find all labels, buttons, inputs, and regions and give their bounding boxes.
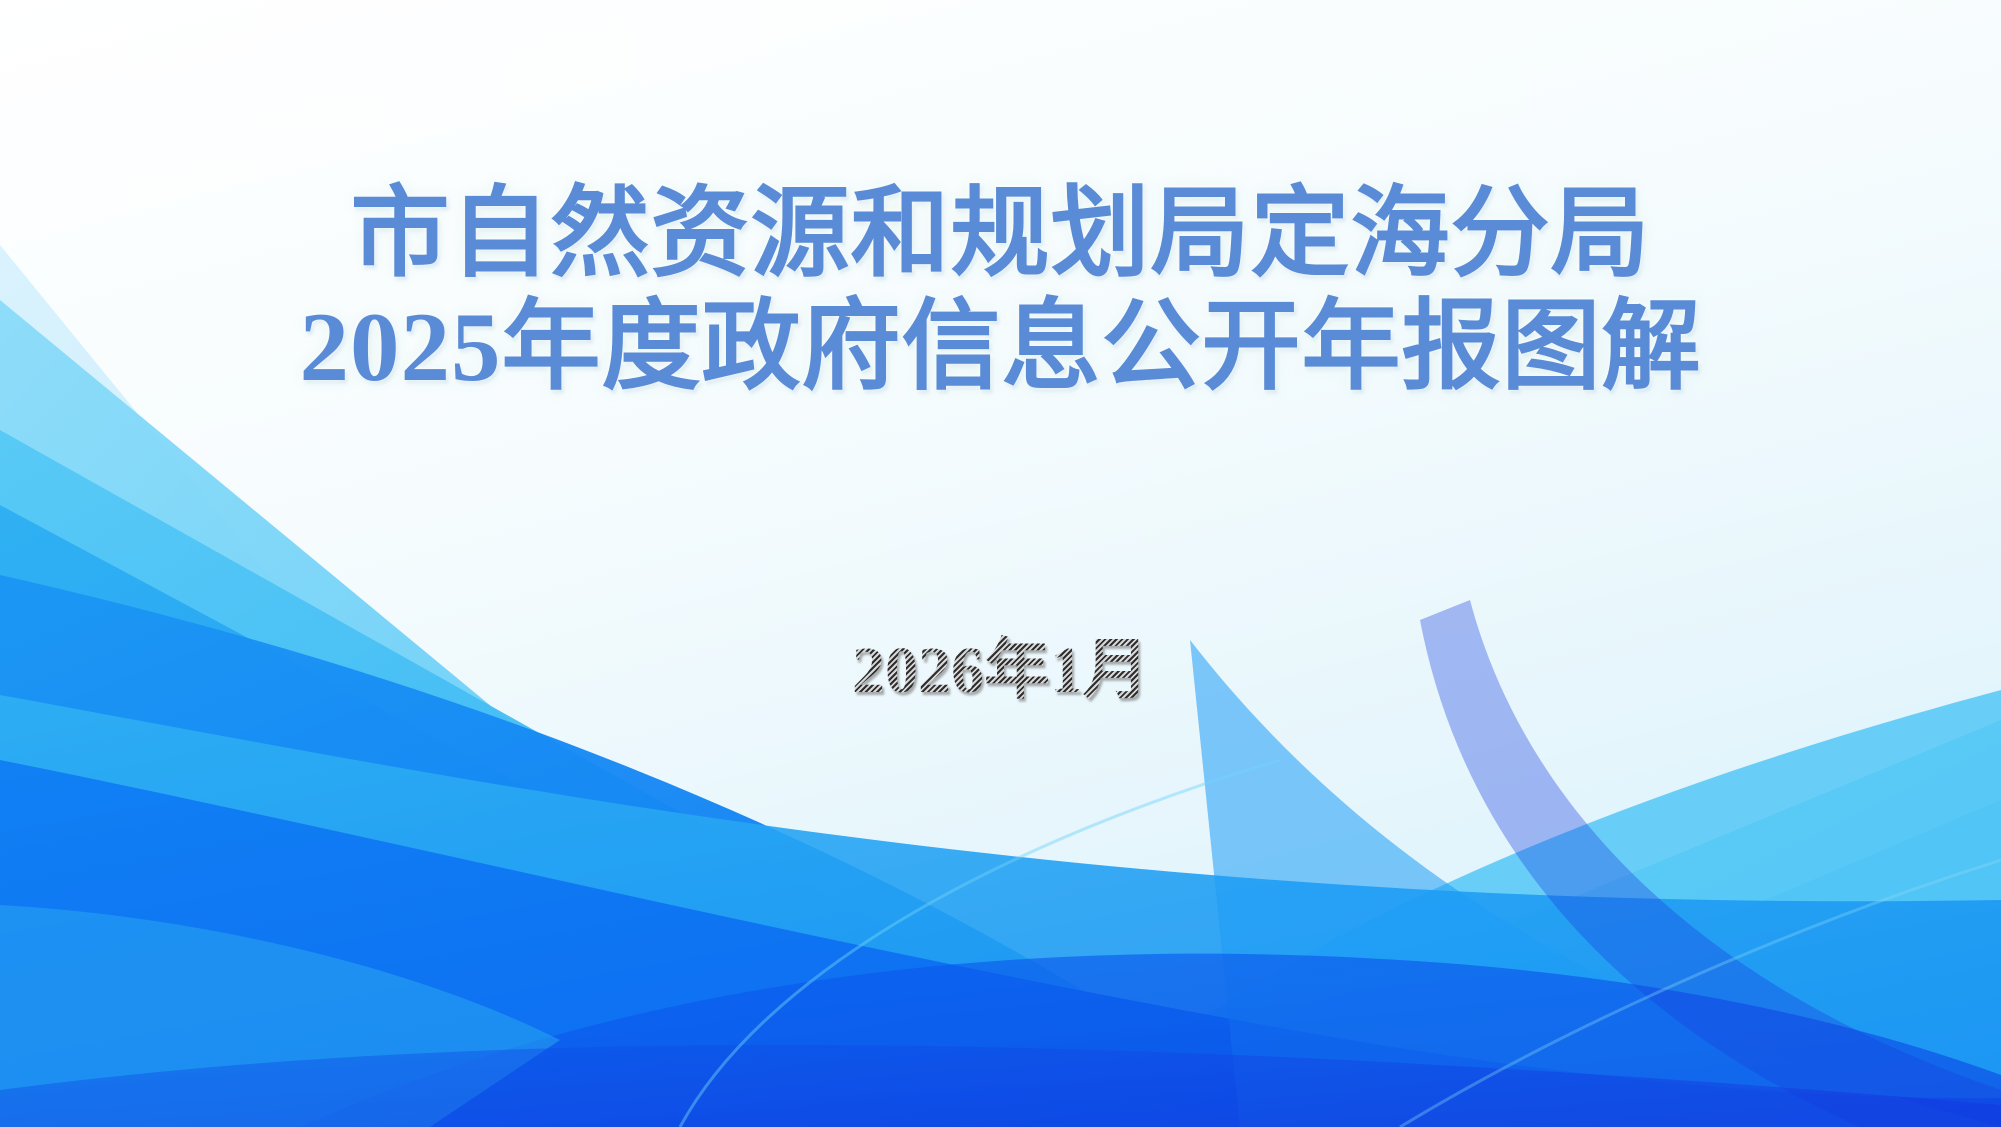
publication-date-label: 2026年1月 <box>852 632 1149 710</box>
page-title: 市自然资源和规划局定海分局 2025年度政府信息公开年报图解 <box>0 178 2001 404</box>
slide-content: 市自然资源和规划局定海分局 2025年度政府信息公开年报图解 2026年1月 <box>0 0 2001 1127</box>
publication-date: 2026年1月 <box>0 632 2001 710</box>
page-title-line-1: 市自然资源和规划局定海分局 <box>0 178 2001 291</box>
cover-slide: 市自然资源和规划局定海分局 2025年度政府信息公开年报图解 2026年1月 <box>0 0 2001 1127</box>
page-title-line-2: 2025年度政府信息公开年报图解 <box>0 291 2001 404</box>
